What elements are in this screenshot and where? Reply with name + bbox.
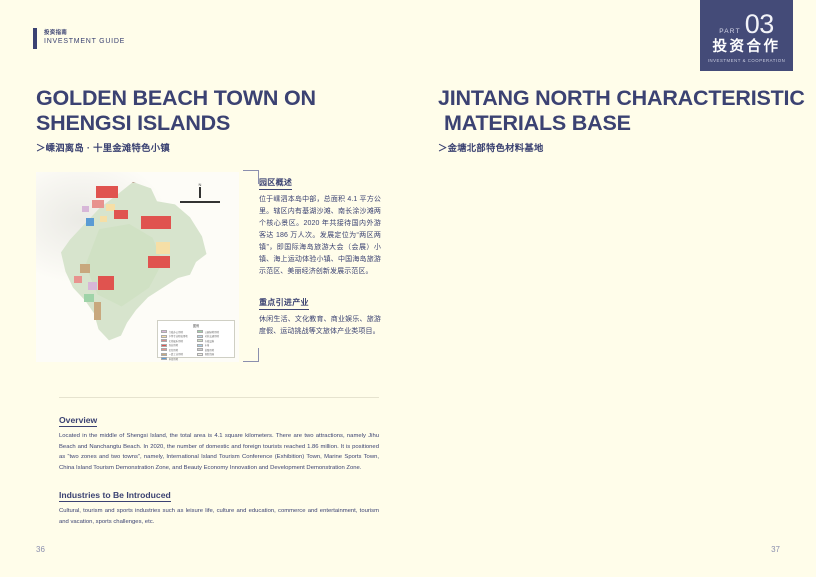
right-page-title: JINTANG NORTH CHARACTERISTIC MATERIALS B…: [438, 86, 805, 136]
legend-swatch: [161, 330, 167, 333]
left-cn-section-overview: 园区概述 位于嵊泗本岛中部，总面积 4.1 平方公里。辖区内有基湖沙滩、南长涂沙…: [259, 172, 381, 278]
left-planning-map: N 图例 行政办公用地公园绿地用地中等专业院校用地对外交通用地文化娱乐用地市政设…: [36, 172, 239, 362]
legend-label: 居住用地: [169, 348, 179, 352]
left-title-block: GOLDEN BEACH TOWN ON SHENGSI ISLANDS ＞嵊泗…: [36, 86, 316, 154]
map-corner-bracket-bottom: [243, 348, 259, 362]
map-compass: N: [177, 182, 223, 204]
legend-item: 道路用地: [197, 348, 231, 352]
left-page-subtitle: ＞嵊泗离岛 · 十里金滩特色小镇: [36, 140, 316, 154]
left-en-column: Overview Located in the middle of Shengs…: [59, 397, 379, 527]
left-en-body-overview: Located in the middle of Shengsi Island,…: [59, 431, 379, 473]
left-cn-body-overview: 位于嵊泗本岛中部，总面积 4.1 平方公里。辖区内有基湖沙滩、南长涂沙滩两个核心…: [259, 194, 381, 278]
legend-swatch: [197, 339, 203, 342]
legend-swatch: [197, 344, 203, 347]
legend-item: 行政办公用地: [161, 330, 195, 334]
legend-label: 公园绿地用地: [205, 330, 219, 334]
left-en-section-industries: Industries to Be Introduced Cultural, to…: [59, 485, 379, 527]
left-cn-body-industries: 休闲生活、文化教育、商业娱乐、旅游度假、运动挑战等文旅体产业类项目。: [259, 314, 381, 338]
legend-swatch: [197, 353, 203, 356]
legend-item: 居住用地: [161, 348, 195, 352]
left-page-title: GOLDEN BEACH TOWN ON SHENGSI ISLANDS: [36, 86, 316, 136]
legend-swatch: [161, 339, 167, 342]
map-scale-bar: [180, 201, 220, 203]
legend-swatch: [197, 330, 203, 333]
legend-swatch: [197, 335, 203, 338]
legend-item: 规划范围: [197, 352, 231, 356]
legend-item: 中等专业院校用地: [161, 334, 195, 338]
legend-swatch: [161, 357, 167, 360]
legend-item: 体育用地: [161, 357, 195, 361]
right-page: JINTANG NORTH CHARACTERISTIC MATERIALS B…: [408, 0, 816, 577]
left-title-line1: GOLDEN BEACH TOWN ON: [36, 86, 316, 110]
left-en-heading-industries: Industries to Be Introduced: [59, 490, 171, 502]
left-en-body-industries: Cultural, tourism and sports industries …: [59, 506, 379, 527]
legend-label: 市政设施: [205, 339, 215, 343]
left-map-legend: 图例 行政办公用地公园绿地用地中等专业院校用地对外交通用地文化娱乐用地市政设施商…: [157, 320, 235, 358]
legend-swatch: [197, 348, 203, 351]
legend-item: 公园绿地用地: [197, 330, 231, 334]
left-page: GOLDEN BEACH TOWN ON SHENGSI ISLANDS ＞嵊泗…: [0, 0, 408, 577]
legend-item: 一类工业用地: [161, 352, 195, 356]
magazine-spread: 投资指南 INVESTMENT GUIDE PART 03 投资合作 INVES…: [0, 0, 816, 577]
right-title-line2: MATERIALS BASE: [438, 111, 805, 136]
legend-item: 水域: [197, 343, 231, 347]
left-cn-section-industries: 重点引进产业 休闲生活、文化教育、商业娱乐、旅游度假、运动挑战等文旅体产业类项目…: [259, 292, 381, 338]
left-title-line2: SHENGSI ISLANDS: [36, 111, 230, 135]
map-corner-bracket-top: [243, 170, 259, 184]
legend-swatch: [161, 344, 167, 347]
left-page-number: 36: [36, 545, 45, 554]
left-cn-column: 园区概述 位于嵊泗本岛中部，总面积 4.1 平方公里。辖区内有基湖沙滩、南长涂沙…: [259, 172, 381, 338]
left-en-heading-overview: Overview: [59, 415, 97, 427]
legend-label: 水域: [205, 343, 210, 347]
left-cn-heading-industries: 重点引进产业: [259, 297, 309, 310]
legend-swatch: [161, 335, 167, 338]
legend-label: 一类工业用地: [169, 352, 183, 356]
right-page-number: 37: [771, 545, 780, 554]
legend-label: 道路用地: [205, 348, 215, 352]
legend-swatch: [161, 348, 167, 351]
right-title-block: JINTANG NORTH CHARACTERISTIC MATERIALS B…: [438, 86, 805, 154]
legend-label: 行政办公用地: [169, 330, 183, 334]
legend-label: 商业用地: [169, 343, 179, 347]
legend-item: 文化娱乐用地: [161, 339, 195, 343]
legend-item: 市政设施: [197, 339, 231, 343]
compass-needle: [199, 187, 200, 198]
legend-item: 商业用地: [161, 343, 195, 347]
left-en-section-overview: Overview Located in the middle of Shengs…: [59, 410, 379, 473]
right-page-subtitle: ＞金塘北部特色材料基地: [438, 140, 805, 154]
right-title-line1: JINTANG NORTH CHARACTERISTIC: [438, 86, 805, 110]
compass-north-label: N: [177, 182, 223, 187]
legend-item: 对外交通用地: [197, 334, 231, 338]
left-en-divider: [59, 397, 379, 398]
left-cn-heading-overview: 园区概述: [259, 177, 292, 190]
legend-label: 中等专业院校用地: [169, 334, 188, 338]
legend-label: 文化娱乐用地: [169, 339, 183, 343]
legend-swatch: [161, 353, 167, 356]
legend-label: 对外交通用地: [205, 334, 219, 338]
legend-label: 体育用地: [169, 357, 179, 361]
legend-label: 规划范围: [205, 352, 215, 356]
